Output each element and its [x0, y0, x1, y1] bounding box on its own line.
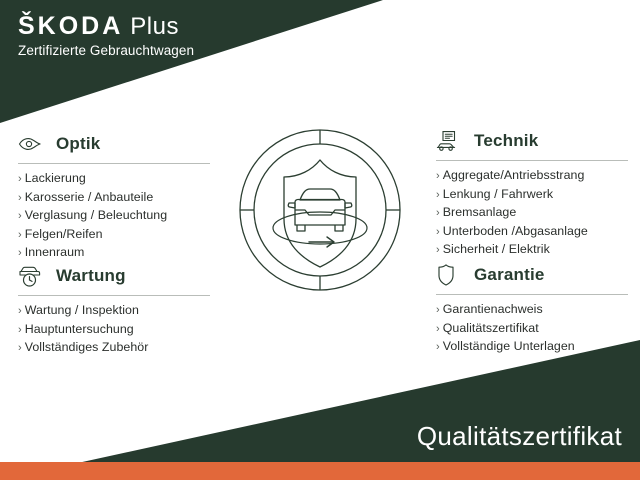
section-wartung-header: Wartung [18, 263, 218, 289]
chevron-right-icon: › [436, 304, 440, 316]
list-item-label: Vollständige Unterlagen [443, 339, 575, 353]
car-lift-icon [436, 129, 462, 153]
section-technik-list: ›Aggregate/Antriebsstrang ›Lenkung / Fah… [436, 167, 636, 260]
bottom-orange-bar [0, 462, 640, 480]
section-garantie-header: Garantie [436, 262, 636, 288]
chevron-right-icon: › [18, 192, 22, 204]
chevron-right-icon: › [436, 207, 440, 219]
section-wartung-divider [18, 295, 210, 296]
list-item: ›Qualitätszertifikat [436, 320, 636, 339]
section-garantie: Garantie ›Garantienachweis ›Qualitätszer… [436, 262, 636, 357]
list-item-label: Aggregate/Antriebsstrang [443, 168, 585, 182]
list-item: ›Hauptuntersuchung [18, 321, 218, 340]
shield-icon [436, 263, 462, 287]
section-garantie-list: ›Garantienachweis ›Qualitätszertifikat ›… [436, 301, 636, 357]
chevron-right-icon: › [18, 247, 22, 259]
brand-tagline: Zertifizierte Gebrauchtwagen [18, 43, 194, 58]
section-technik-header: Technik [436, 128, 636, 154]
list-item-label: Bremsanlage [443, 205, 517, 219]
list-item-label: Vollständiges Zubehör [25, 340, 149, 354]
chevron-right-icon: › [436, 226, 440, 238]
list-item-label: Qualitätszertifikat [443, 321, 539, 335]
brand-logo-line: ŠKODAPlus [18, 14, 194, 39]
brand-name: ŠKODA [18, 12, 123, 40]
list-item: ›Lenkung / Fahrwerk [436, 186, 636, 205]
list-item-label: Unterboden /Abgasanlage [443, 224, 588, 238]
section-wartung-title: Wartung [56, 266, 126, 286]
list-item: ›Karosserie / Anbauteile [18, 189, 218, 208]
section-garantie-divider [436, 294, 628, 295]
list-item: ›Vollständiges Zubehör [18, 339, 218, 358]
certified-vehicle-emblem [237, 127, 403, 293]
quality-certificate-page: ŠKODAPlus Zertifizierte Gebrauchtwagen O… [0, 0, 640, 480]
list-item: ›Vollständige Unterlagen [436, 338, 636, 357]
list-item: ›Verglasung / Beleuchtung [18, 207, 218, 226]
section-optik: Optik ›Lackierung ›Karosserie / Anbautei… [18, 131, 218, 263]
section-optik-header: Optik [18, 131, 218, 157]
list-item-label: Lackierung [25, 171, 86, 185]
section-garantie-title: Garantie [474, 265, 545, 285]
list-item: ›Bremsanlage [436, 204, 636, 223]
section-wartung-list: ›Wartung / Inspektion ›Hauptuntersuchung… [18, 302, 218, 358]
chevron-right-icon: › [18, 229, 22, 241]
list-item-label: Wartung / Inspektion [25, 303, 139, 317]
section-optik-divider [18, 163, 210, 164]
chevron-right-icon: › [436, 189, 440, 201]
chevron-right-icon: › [18, 324, 22, 336]
list-item: ›Aggregate/Antriebsstrang [436, 167, 636, 186]
list-item: ›Felgen/Reifen [18, 226, 218, 245]
section-technik: Technik ›Aggregate/Antriebsstrang ›Lenku… [436, 128, 636, 260]
chevron-right-icon: › [18, 173, 22, 185]
bottom-green-diagonal-banner [0, 340, 640, 480]
list-item: ›Garantienachweis [436, 301, 636, 320]
chevron-right-icon: › [18, 305, 22, 317]
car-clock-icon [18, 264, 44, 288]
section-technik-divider [436, 160, 628, 161]
chevron-right-icon: › [436, 323, 440, 335]
list-item-label: Lenkung / Fahrwerk [443, 187, 553, 201]
list-item-label: Hauptuntersuchung [25, 322, 134, 336]
eye-icon [18, 132, 44, 156]
list-item-label: Felgen/Reifen [25, 227, 103, 241]
chevron-right-icon: › [436, 341, 440, 353]
list-item-label: Verglasung / Beleuchtung [25, 208, 167, 222]
section-optik-title: Optik [56, 134, 100, 154]
list-item: ›Unterboden /Abgasanlage [436, 223, 636, 242]
footer-title: Qualitätszertifikat [417, 421, 622, 452]
list-item-label: Innenraum [25, 245, 85, 259]
list-item-label: Sicherheit / Elektrik [443, 242, 550, 256]
list-item: ›Innenraum [18, 244, 218, 263]
list-item-label: Garantienachweis [443, 302, 543, 316]
chevron-right-icon: › [436, 244, 440, 256]
list-item-label: Karosserie / Anbauteile [25, 190, 154, 204]
list-item: ›Lackierung [18, 170, 218, 189]
section-technik-title: Technik [474, 131, 538, 151]
list-item: ›Wartung / Inspektion [18, 302, 218, 321]
section-optik-list: ›Lackierung ›Karosserie / Anbauteile ›Ve… [18, 170, 218, 263]
brand-logo: ŠKODAPlus Zertifizierte Gebrauchtwagen [18, 14, 194, 58]
chevron-right-icon: › [436, 170, 440, 182]
brand-suffix: Plus [130, 13, 179, 40]
list-item: ›Sicherheit / Elektrik [436, 241, 636, 260]
section-wartung: Wartung ›Wartung / Inspektion ›Hauptunte… [18, 263, 218, 358]
chevron-right-icon: › [18, 210, 22, 222]
chevron-right-icon: › [18, 342, 22, 354]
